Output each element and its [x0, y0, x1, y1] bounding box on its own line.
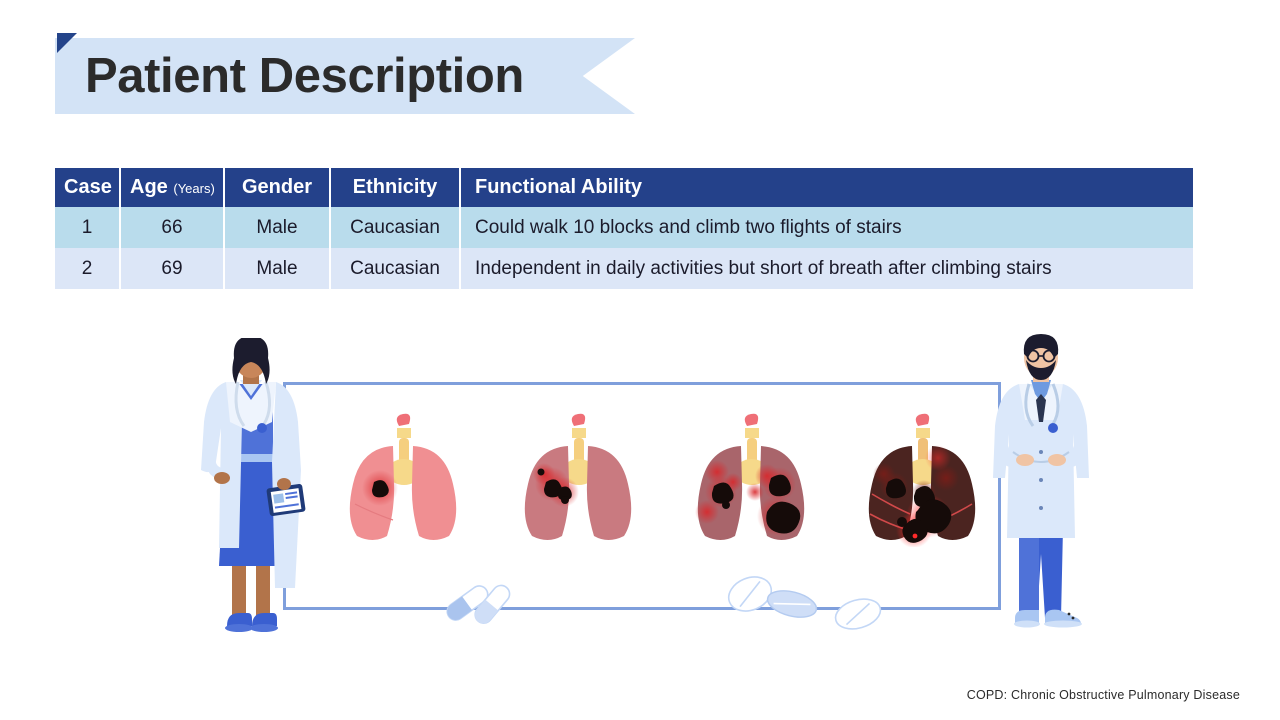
- footnote-abbreviation: COPD: Chronic Obstructive Pulmonary Dise…: [967, 688, 1240, 702]
- column-header-functional-ability-label: Functional Ability: [475, 176, 642, 198]
- title-corner-accent: [57, 33, 77, 53]
- patient-description-table: Case Age (Years) Gender Ethnicity Functi…: [55, 168, 1193, 289]
- slide-canvas: Patient Description Case Age (Years) Gen…: [0, 0, 1280, 720]
- column-header-age-label: Age: [130, 176, 168, 198]
- column-header-case-label: Case: [64, 176, 112, 198]
- column-header-gender: Gender: [225, 168, 331, 207]
- illustration-area: [0, 320, 1280, 650]
- capsule-pills-illustration: [440, 578, 520, 624]
- cell-case: 1: [55, 207, 121, 248]
- cell-gender: Male: [225, 207, 331, 248]
- cell-ethnicity: Caucasian: [331, 248, 461, 289]
- column-header-case: Case: [55, 168, 121, 207]
- cell-case: 2: [55, 248, 121, 289]
- column-header-age-unit: (Years): [173, 181, 214, 196]
- lung-stage-2-illustration: [508, 412, 648, 547]
- table-header-row: Case Age (Years) Gender Ethnicity Functi…: [55, 168, 1193, 207]
- cell-ethnicity: Caucasian: [331, 207, 461, 248]
- lung-stage-1-illustration: [333, 412, 473, 547]
- page-title: Patient Description: [85, 40, 625, 112]
- column-header-age: Age (Years): [121, 168, 225, 207]
- tablet-pills-illustration: [718, 570, 888, 632]
- table-row: 2 69 Male Caucasian Independent in daily…: [55, 248, 1193, 289]
- column-header-functional-ability: Functional Ability: [461, 168, 1193, 207]
- cell-age: 66: [121, 207, 225, 248]
- lung-stage-3-illustration: [681, 412, 821, 547]
- cell-age: 69: [121, 248, 225, 289]
- lung-stage-4-illustration: [852, 412, 992, 547]
- cell-functional-ability: Could walk 10 blocks and climb two fligh…: [461, 207, 1193, 248]
- column-header-ethnicity: Ethnicity: [331, 168, 461, 207]
- male-doctor-illustration: [985, 332, 1097, 640]
- cell-functional-ability: Independent in daily activities but shor…: [461, 248, 1193, 289]
- column-header-ethnicity-label: Ethnicity: [353, 176, 437, 198]
- cell-gender: Male: [225, 248, 331, 289]
- column-header-gender-label: Gender: [242, 176, 312, 198]
- female-doctor-illustration: [196, 338, 306, 638]
- table-row: 1 66 Male Caucasian Could walk 10 blocks…: [55, 207, 1193, 248]
